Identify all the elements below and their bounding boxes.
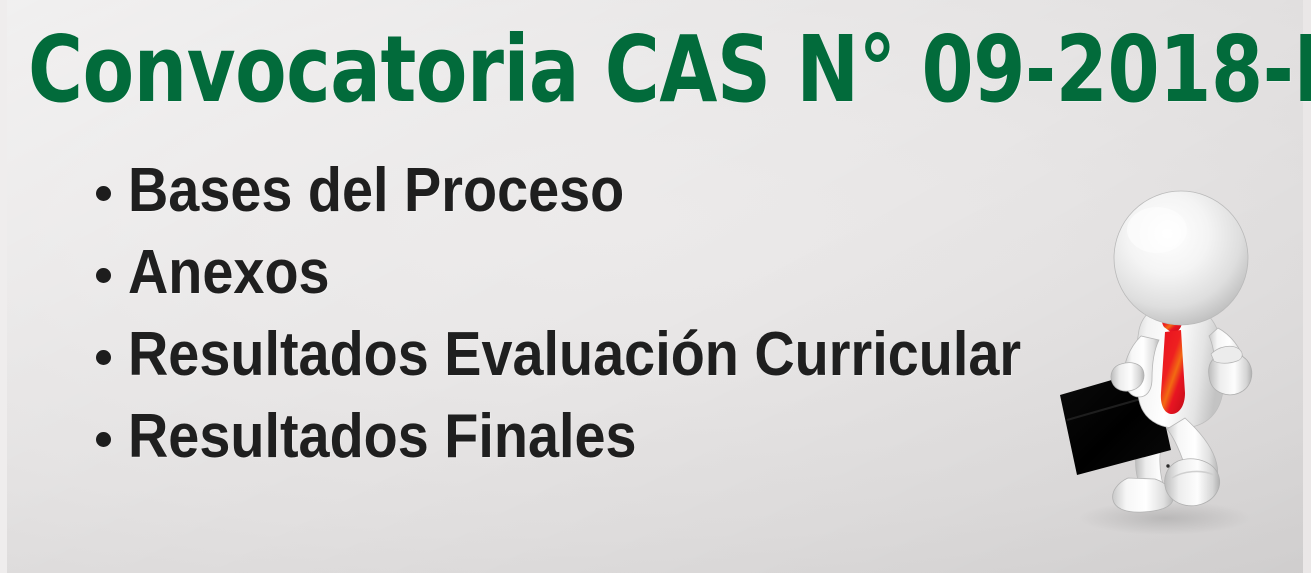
- convocatoria-banner: Convocatoria CAS N° 09-2018-MDC Bases de…: [0, 0, 1311, 573]
- list-item-label: Anexos: [128, 242, 330, 304]
- bullet-dot-icon: [96, 186, 111, 201]
- banner-title: Convocatoria CAS N° 09-2018-MDC: [28, 18, 1055, 122]
- bullet-dot-icon: [96, 268, 111, 283]
- back-foot: [1113, 478, 1174, 512]
- list-item[interactable]: Resultados Finales: [96, 396, 1120, 478]
- detail-speck: [1166, 464, 1169, 467]
- businessman-figure-illustration: [1015, 178, 1311, 548]
- bullet-list: Bases del Proceso Anexos Resultados Eval…: [96, 150, 1120, 478]
- list-item[interactable]: Anexos: [96, 232, 1120, 314]
- tie-body: [1161, 330, 1185, 414]
- list-item[interactable]: Bases del Proceso: [96, 150, 1120, 232]
- list-item-label: Bases del Proceso: [128, 160, 624, 222]
- head-highlight: [1127, 207, 1187, 253]
- list-item[interactable]: Resultados Evaluación Curricular: [96, 314, 1120, 396]
- bullet-dot-icon: [96, 350, 111, 365]
- list-item-label: Resultados Evaluación Curricular: [128, 324, 1021, 386]
- head: [1114, 191, 1248, 325]
- left-edge-strip: [0, 0, 7, 573]
- front-foot: [1165, 459, 1220, 506]
- bullet-dot-icon: [96, 432, 111, 447]
- left-hand: [1111, 363, 1144, 391]
- list-item-label: Resultados Finales: [128, 406, 637, 468]
